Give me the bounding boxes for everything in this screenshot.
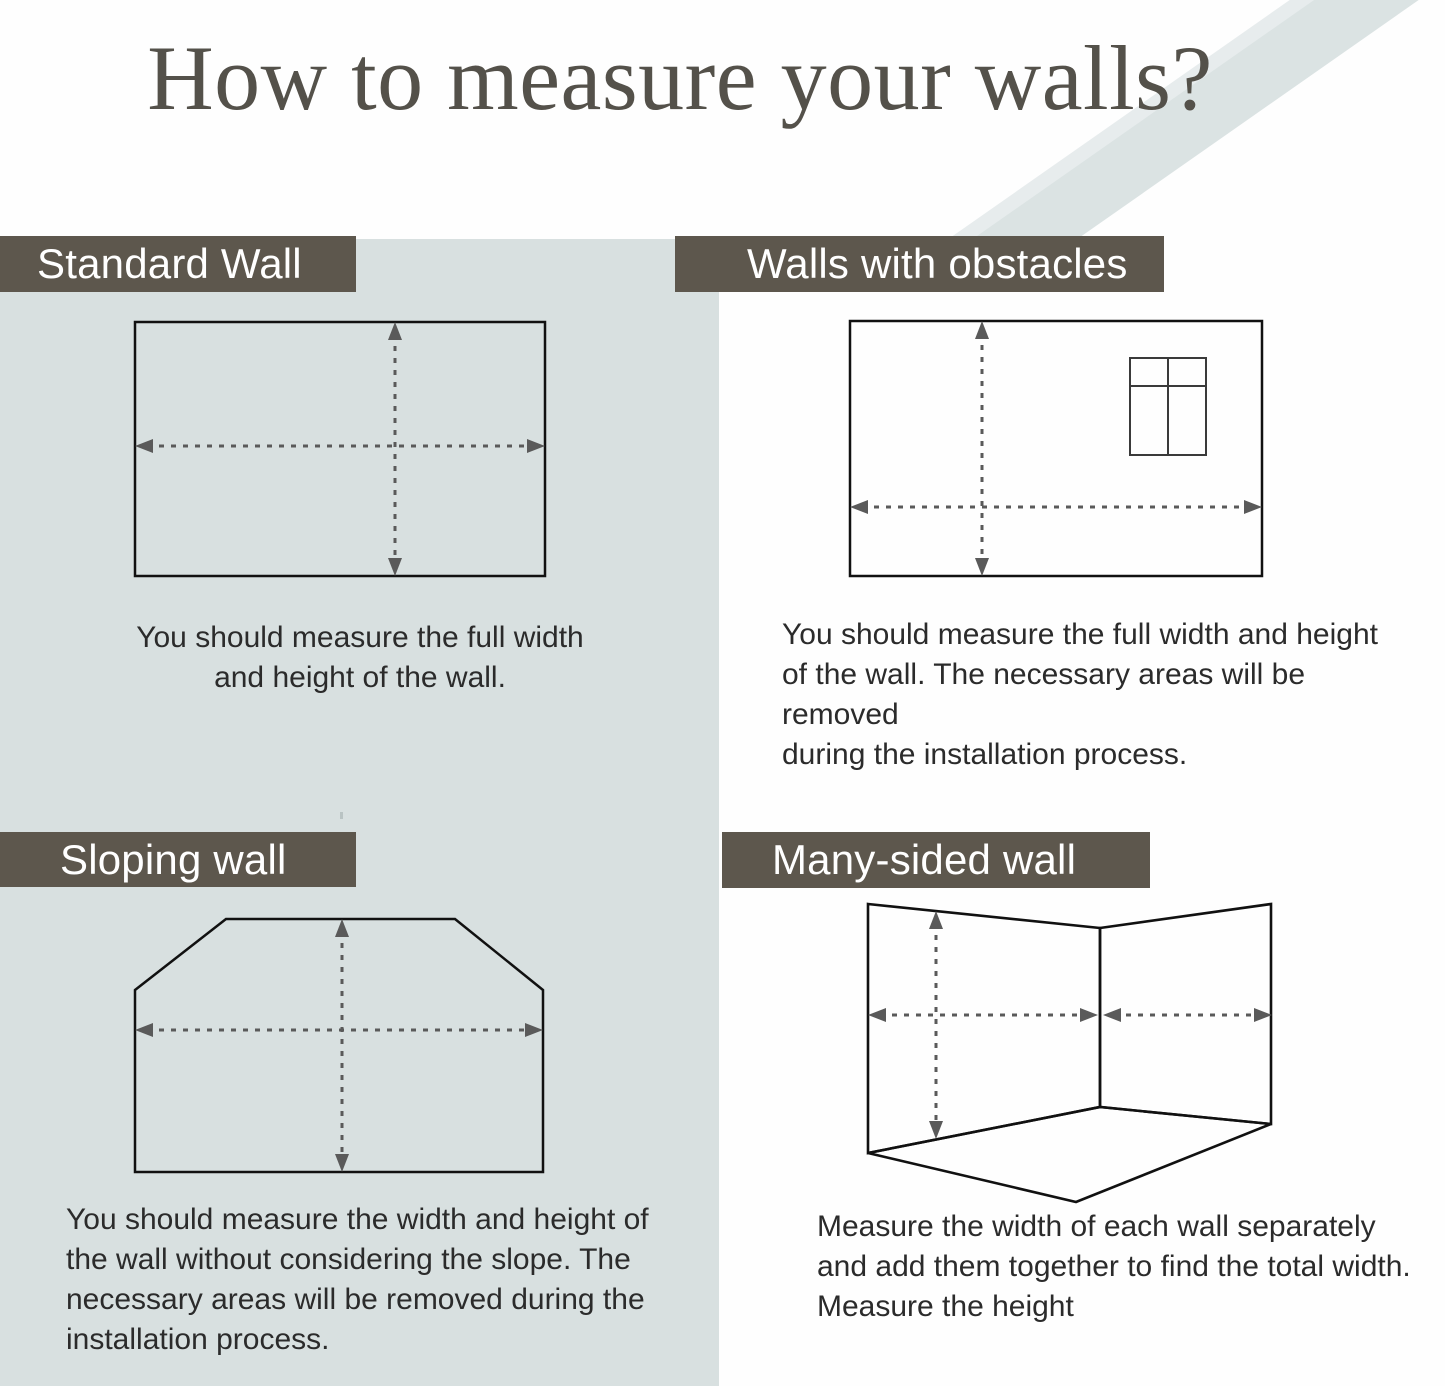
width-arrow-head-left [850, 500, 868, 514]
height-arrow-head-top [975, 321, 989, 339]
wall-outline [135, 919, 543, 1172]
page-title: How to measure your walls? [0, 30, 1360, 127]
width-arrow-right-head-end [1254, 1008, 1272, 1022]
height-arrow-head-top [388, 322, 402, 340]
width-arrow-right-head-start [1103, 1008, 1121, 1022]
wall-outline [850, 321, 1262, 576]
infographic-page: How to measure your walls? Standard Wall… [0, 0, 1445, 1386]
section-heading-many-sided-wall: Many-sided wall [722, 832, 1150, 888]
caption-many-sided-wall: Measure the width of each wall separatel… [817, 1207, 1437, 1327]
floor-outline [868, 1107, 1271, 1202]
height-arrow-head-bottom [388, 558, 402, 576]
height-arrow-head-top [929, 911, 943, 929]
width-arrow-left-head-start [868, 1008, 886, 1022]
width-arrow-head-right [1244, 500, 1262, 514]
width-arrow-head-right [527, 439, 545, 453]
section-heading-walls-with-obstacles: Walls with obstacles [675, 236, 1164, 292]
width-arrow-head-left [135, 439, 153, 453]
diagram-standard-wall [110, 300, 580, 605]
window-icon [1130, 358, 1206, 455]
height-arrow-head-bottom [335, 1154, 349, 1172]
diagram-walls-with-obstacles [830, 300, 1300, 605]
stray-tick-mark [340, 812, 343, 819]
width-arrow-head-right [525, 1023, 543, 1037]
wall-outline [135, 322, 545, 576]
caption-sloping-wall: You should measure the width and height … [66, 1200, 676, 1360]
caption-standard-wall: You should measure the full width and he… [60, 618, 660, 698]
diagram-many-sided-wall [840, 885, 1310, 1220]
section-heading-label: Standard Wall [37, 240, 302, 288]
height-arrow-head-bottom [975, 558, 989, 576]
right-wall-outline [1100, 904, 1271, 1124]
section-heading-label: Sloping wall [60, 836, 287, 884]
section-heading-label: Many-sided wall [772, 836, 1076, 884]
width-arrow-head-left [135, 1023, 153, 1037]
left-wall-outline [868, 904, 1100, 1153]
caption-walls-with-obstacles: You should measure the full width and he… [782, 615, 1422, 775]
height-arrow-head-bottom [929, 1121, 943, 1139]
width-arrow-left-head-end [1080, 1008, 1098, 1022]
height-arrow-head-top [335, 919, 349, 937]
diagram-sloping-wall [110, 890, 580, 1205]
section-heading-sloping-wall: Sloping wall [0, 832, 356, 887]
section-heading-standard-wall: Standard Wall [0, 236, 356, 292]
section-heading-label: Walls with obstacles [747, 240, 1128, 288]
